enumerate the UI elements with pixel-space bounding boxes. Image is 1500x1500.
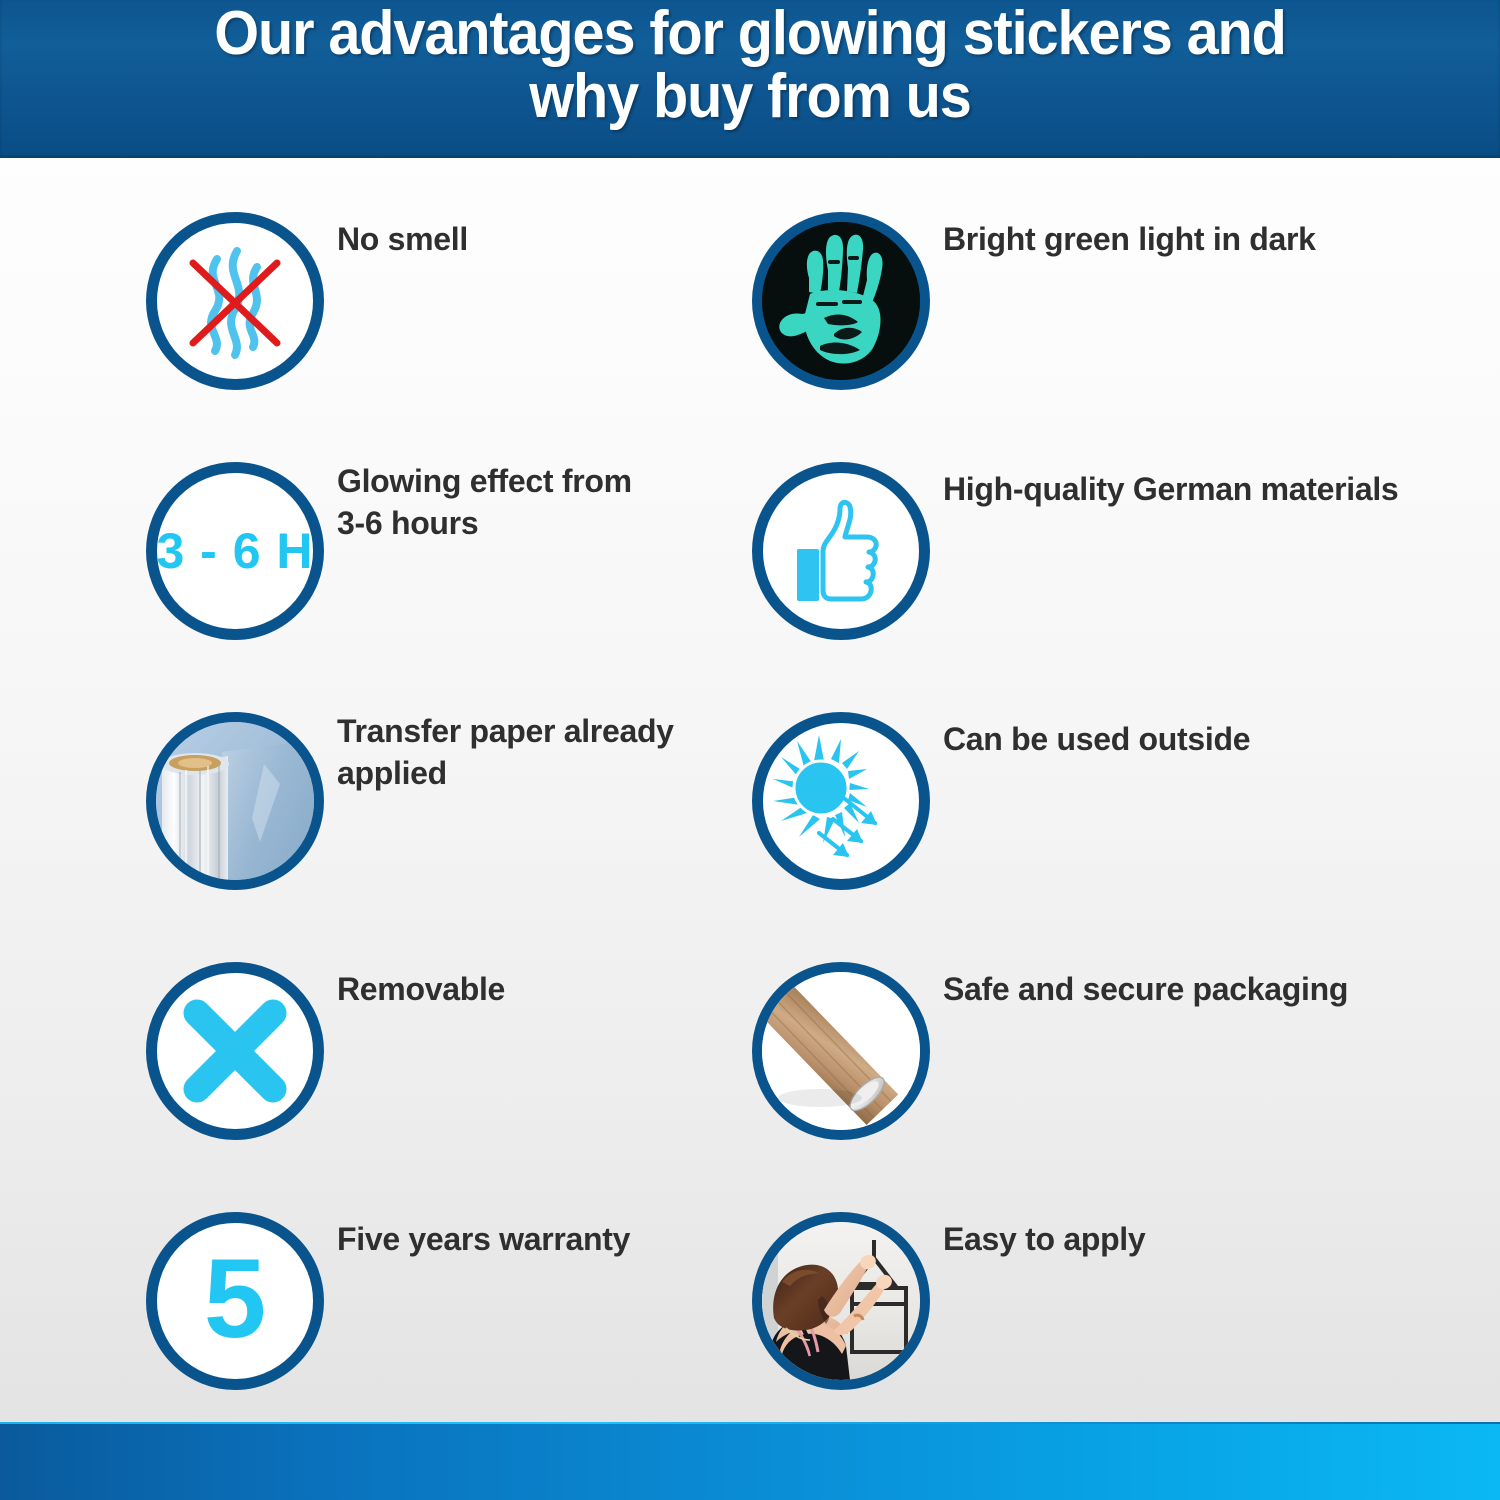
page-title: Our advantages for glowing stickers and … [53,2,1448,128]
film-roll-svg [156,722,314,880]
feature-label: Easy to apply [943,1218,1145,1260]
mailing-tube-svg [762,972,920,1130]
glowing-handprint-icon [762,222,920,380]
feature-used-outside: Can be used outside [752,712,1332,890]
cross-x-icon [157,973,313,1129]
no-smell-icon [157,223,313,379]
sun-rays-svg [763,723,919,879]
packaging-badge [752,962,930,1140]
bottom-bar [0,1424,1500,1500]
removable-badge [146,962,324,1140]
thumbs-up-badge [752,462,930,640]
feature-label: No smell [337,218,468,260]
thumbs-up-icon [763,473,919,629]
handprint-svg [762,222,920,380]
feature-no-smell: No smell [146,212,706,390]
transfer-film-badge [146,712,324,890]
no-smell-badge [146,212,324,390]
feature-safe-packaging: Safe and secure packaging [752,962,1372,1140]
feature-label: Glowing effect from 3-6 hours [337,460,632,544]
feature-removable: Removable [146,962,706,1140]
person-applying-svg [762,1222,920,1380]
transfer-film-roll-photo [156,722,314,880]
sun-with-rays-icon [763,723,919,879]
no-smell-icon-svg [157,223,313,379]
glow-handprint-badge [752,212,930,390]
infographic-page: Our advantages for glowing stickers and … [0,0,1500,1500]
feature-label: Transfer paper already applied [337,710,674,794]
thumbs-up-svg [763,473,919,629]
feature-transfer-paper: Transfer paper already applied [146,712,726,890]
feature-label: Safe and secure packaging [943,968,1348,1010]
person-applying-decal-photo [762,1222,920,1380]
feature-label: Bright green light in dark [943,218,1316,260]
feature-easy-apply: Easy to apply [752,1212,1332,1390]
outside-badge [752,712,930,890]
mailing-tube-photo [762,972,920,1130]
feature-label: High-quality German materials [943,468,1398,510]
easy-apply-badge [752,1212,930,1390]
feature-label: Removable [337,968,505,1010]
feature-warranty: 5 Five years warranty [146,1212,706,1390]
header-banner: Our advantages for glowing stickers and … [0,0,1500,158]
feature-bright-green-light: Bright green light in dark [752,212,1412,390]
number-five-icon: 5 [204,1243,266,1355]
feature-label: Five years warranty [337,1218,630,1260]
hours-3-6-icon: 3 - 6 H [156,522,313,580]
feature-glowing-hours: 3 - 6 H Glowing effect from 3-6 hours [146,462,706,640]
cross-x-svg [157,973,313,1129]
feature-label: Can be used outside [943,718,1250,760]
feature-german-materials: High-quality German materials [752,462,1432,640]
